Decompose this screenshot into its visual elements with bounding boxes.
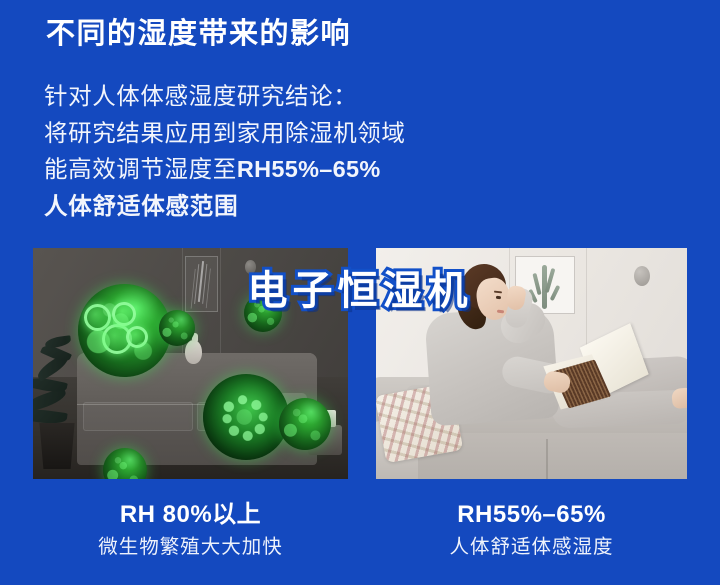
body-line-4: 人体舒适体感范围 (44, 188, 406, 225)
microbe-sphere-virus (203, 374, 289, 460)
microbe-sphere-large (78, 284, 171, 377)
light-room-scene (376, 248, 687, 479)
plant-leaf (44, 335, 71, 349)
microbe-sphere-side (159, 310, 195, 346)
caption-left-title: RH 80%以上 (33, 498, 348, 532)
body-line-2: 将研究结果应用到家用除湿机领域 (44, 115, 406, 152)
dark-sofa-cushion-1 (83, 402, 193, 431)
body-line-1: 针对人体体感湿度研究结论： (44, 78, 406, 115)
caption-comfort-humidity: RH55%–65% 人体舒适体感湿度 (376, 498, 687, 562)
caption-right-title: RH55%–65% (376, 498, 687, 532)
body-line-3: 能高效调节湿度至RH55%–65% (44, 151, 406, 188)
caption-right-subtitle: 人体舒适体感湿度 (376, 532, 687, 562)
microbe-cell (126, 326, 148, 348)
microbe-cell (84, 304, 111, 331)
body-line-3-prefix: 能高效调节湿度至 (44, 156, 237, 182)
dark-room-scene (33, 248, 348, 479)
woman-foot (671, 387, 687, 409)
body-line-3-humidity-range: RH55%–65% (237, 156, 381, 182)
cactus-arm (533, 273, 542, 295)
light-sofa-seam (546, 439, 548, 479)
microbe-cell (112, 302, 136, 326)
poster-root: 不同的湿度带来的影响 针对人体体感湿度研究结论： 将研究结果应用到家用除湿机领域… (0, 0, 720, 585)
plant-pot (37, 423, 77, 469)
white-vase (185, 340, 202, 364)
wall-knob (245, 260, 256, 274)
caption-left-subtitle: 微生物繁殖大大加快 (33, 532, 348, 562)
potted-plant (33, 337, 91, 469)
panel-image-high-humidity (33, 248, 348, 479)
microbe-cell (102, 324, 132, 354)
microbe-sphere-edge (279, 398, 331, 450)
woman-eye (496, 296, 501, 299)
microbe-sphere-top (244, 294, 282, 332)
cactus-arm (550, 285, 561, 301)
panel-captions: RH 80%以上 微生物繁殖大大加快 RH55%–65% 人体舒适体感湿度 (0, 498, 720, 585)
image-panels (0, 248, 720, 479)
page-title: 不同的湿度带来的影响 (46, 16, 351, 53)
panel-image-comfort-humidity (376, 248, 687, 479)
body-copy: 针对人体体感湿度研究结论： 将研究结果应用到家用除湿机领域 能高效调节湿度至RH… (44, 78, 406, 224)
wall-art-frame (185, 256, 218, 312)
caption-high-humidity: RH 80%以上 微生物繁殖大大加快 (33, 498, 348, 562)
wall-lamp (634, 266, 650, 286)
